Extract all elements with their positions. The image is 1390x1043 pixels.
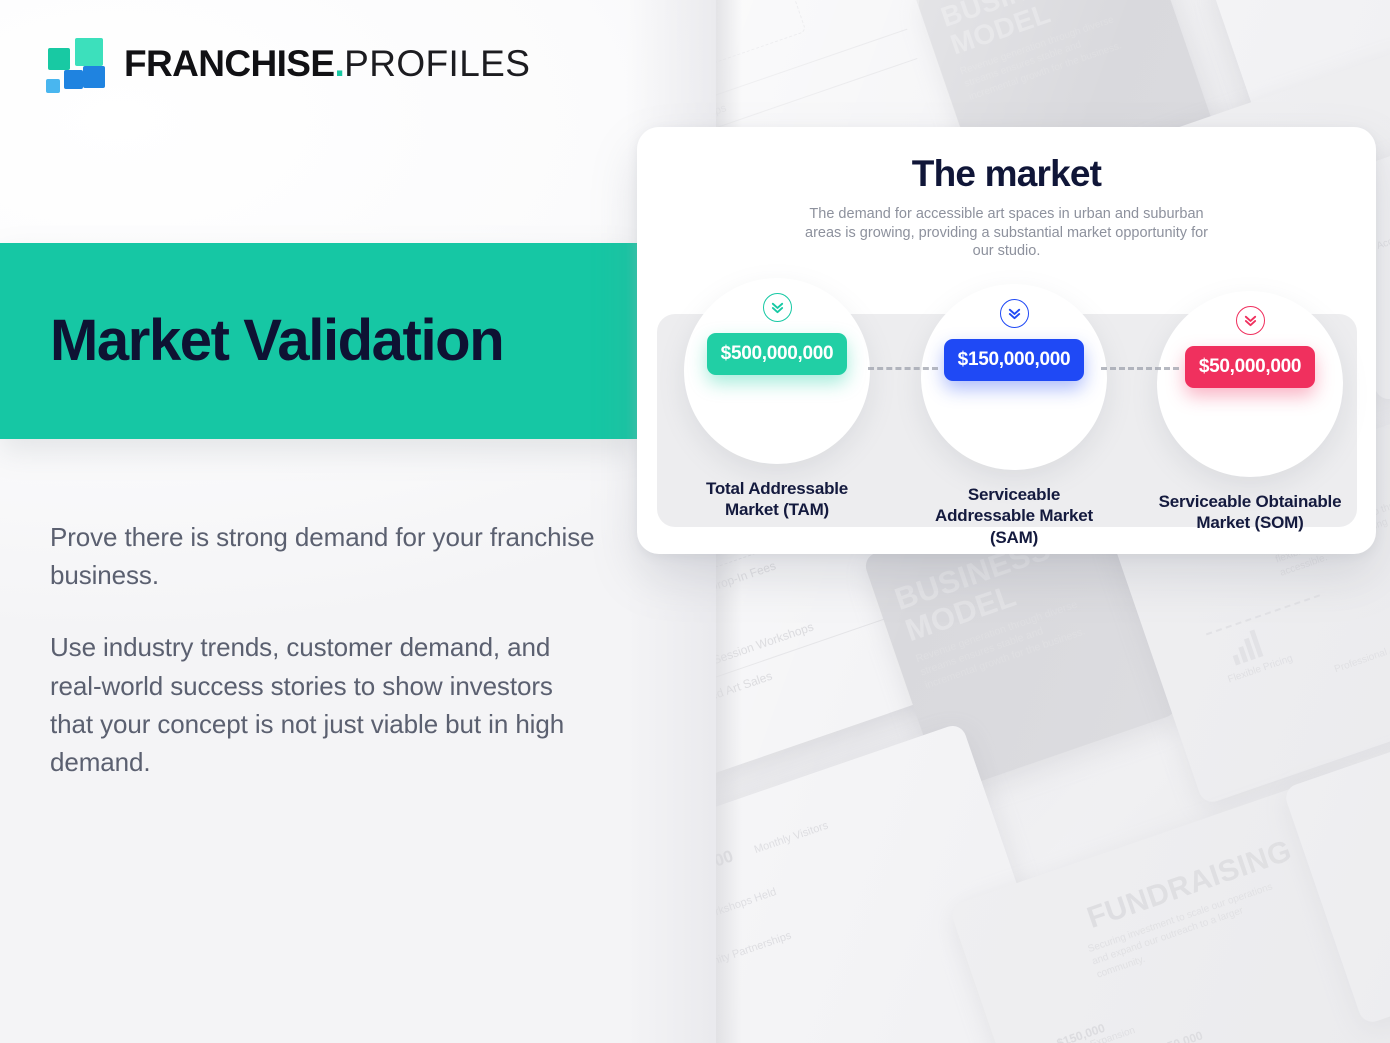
- market-node-bubble: $500,000,000: [684, 278, 870, 464]
- market-node-value: $500,000,000: [707, 333, 848, 375]
- brand-name-dot: .: [334, 43, 344, 84]
- page-title: Market Validation: [50, 312, 503, 370]
- market-card-title: The market: [637, 153, 1376, 195]
- market-node-caption: Serviceable Obtainable Market (SOM): [1157, 491, 1343, 534]
- market-node-som[interactable]: $50,000,000 Serviceable Obtainable Marke…: [1157, 291, 1343, 534]
- bg-slide-item: Accessible Spaces: [1375, 185, 1390, 252]
- market-node-value: $150,000,000: [944, 339, 1085, 381]
- market-node-value: $50,000,000: [1185, 346, 1315, 388]
- logo-square-mint: [75, 38, 103, 66]
- brand-name-bold: FRANCHISE: [124, 43, 334, 84]
- heading-banner: Market Validation: [0, 243, 637, 439]
- logo-square-blue-right: [83, 66, 105, 88]
- slide-canvas: Drop-In Fees Session Workshops Commissio…: [0, 0, 1390, 1043]
- double-chevron-down-circle-icon: [763, 293, 792, 322]
- market-node-caption: Serviceable Addressable Market (SAM): [921, 484, 1107, 548]
- five-squares-logo-mark-icon: [46, 38, 108, 90]
- body-paragraph-1: Prove there is strong demand for your fr…: [50, 518, 595, 594]
- body-copy: Prove there is strong demand for your fr…: [50, 518, 595, 781]
- logo-square-blue-left: [64, 70, 83, 89]
- body-paragraph-2: Use industry trends, customer demand, an…: [50, 628, 595, 781]
- double-chevron-down-circle-icon: [1236, 306, 1265, 335]
- market-node-sam[interactable]: $150,000,000 Serviceable Addressable Mar…: [921, 284, 1107, 548]
- left-panel: FRANCHISE.PROFILES Market Validation Pro…: [0, 0, 716, 1043]
- market-node-bubble: $150,000,000: [921, 284, 1107, 470]
- market-node-tam[interactable]: $500,000,000 Total Addressable Market (T…: [684, 278, 870, 521]
- bg-stat-label: Monthly Visitors: [753, 820, 830, 857]
- market-node-bubble: $50,000,000: [1157, 291, 1343, 477]
- market-card-subtitle: The demand for accessible art spaces in …: [798, 205, 1216, 261]
- brand-name-light: PROFILES: [344, 43, 530, 84]
- market-node-caption: Total Addressable Market (TAM): [684, 478, 870, 521]
- double-chevron-down-circle-icon: [1000, 299, 1029, 328]
- logo-square-light-blue: [46, 79, 60, 93]
- market-connector-tam-sam: [868, 367, 938, 370]
- market-connector-sam-som: [1101, 367, 1179, 370]
- logo-square-teal: [48, 48, 70, 70]
- brand-logo[interactable]: FRANCHISE.PROFILES: [46, 38, 530, 90]
- brand-wordmark: FRANCHISE.PROFILES: [124, 43, 530, 85]
